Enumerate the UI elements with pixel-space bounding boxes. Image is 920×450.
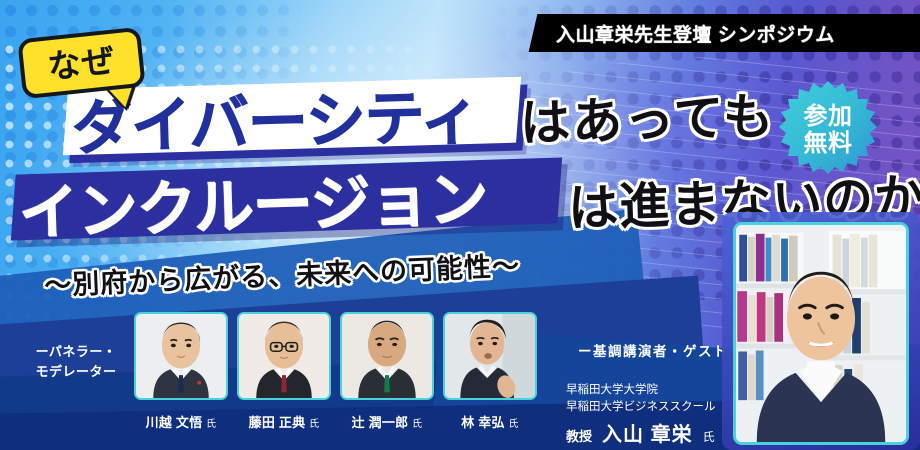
main-speaker-photo [733, 222, 909, 445]
guest-section-label: ー基調講演者・ゲスト [558, 340, 748, 360]
panelist-name: 辻 潤一郎 氏 [340, 412, 434, 431]
panelist-label-line1: ーパネラー・ [14, 342, 138, 362]
portrait-illustration [342, 314, 432, 398]
portrait-illustration [136, 314, 226, 398]
guest-honorific: 氏 [703, 428, 715, 445]
panelist-honorific: 氏 [206, 419, 216, 430]
panelist-photo [134, 312, 228, 400]
panelist-card: 藤田 正典 氏 [237, 312, 331, 450]
title-line1-tail-text: はあっても [519, 76, 776, 155]
panelist-section-label: ーパネラー・ モデレーター [14, 342, 138, 382]
portrait-illustration [239, 314, 329, 398]
guest-name: 入山 章栄 [602, 418, 693, 447]
panelist-photo [443, 312, 537, 400]
panelist-honorific: 氏 [509, 419, 519, 430]
panelist-honorific: 氏 [412, 419, 422, 430]
badge-text-group: 参加 無料 [778, 80, 878, 180]
title-line1-tail: はあっても [519, 79, 776, 152]
free-admission-badge: 参加 無料 [778, 80, 878, 180]
panelist-card: 辻 潤一郎 氏 [340, 312, 434, 450]
panelist-name-text: 辻 潤一郎 [352, 415, 409, 430]
guest-affiliation: 早稲田大学大学院 早稲田大学ビジネススクール [566, 382, 746, 415]
panelist-name-text: 林 幸弘 [461, 415, 504, 430]
speech-bubble-label: なぜ [46, 43, 117, 83]
panelist-honorific: 氏 [309, 419, 319, 430]
panelist-name: 川越 文悟 氏 [134, 412, 228, 431]
panelist-name: 藤田 正典 氏 [237, 412, 331, 431]
title-line1-main: ダイバーシティ [71, 73, 543, 158]
main-portrait-illustration [736, 225, 906, 442]
panelist-list: 川越 文悟 氏 [134, 312, 534, 450]
badge-line2: 無料 [804, 130, 853, 157]
header-title: 入山章栄先生登壇 シンポジウム [556, 18, 920, 48]
speech-bubble: なぜ [17, 27, 146, 100]
panelist-name-text: 川越 文悟 [146, 415, 203, 430]
title-line2-main-text: インクルージョン [17, 150, 489, 252]
portrait-illustration [445, 314, 535, 398]
event-banner: 入山章栄先生登壇 シンポジウム なぜ ダイバーシティ はあっても インクルージョ… [0, 0, 920, 450]
guest-affiliation-line2: 早稲田大学ビジネススクール [566, 399, 746, 416]
panelist-card: 川越 文悟 氏 [134, 312, 228, 450]
guest-affiliation-line1: 早稲田大学大学院 [566, 382, 746, 399]
panelist-card: 林 幸弘 氏 [443, 312, 537, 450]
guest-rank: 教授 [566, 426, 592, 445]
panelist-name-text: 藤田 正典 [249, 415, 306, 430]
panelist-name: 林 幸弘 氏 [443, 412, 537, 431]
panelist-photo [340, 312, 434, 400]
badge-line1: 参加 [804, 103, 853, 130]
panelist-photo [237, 312, 331, 400]
panelist-label-line2: モデレーター [14, 362, 138, 382]
